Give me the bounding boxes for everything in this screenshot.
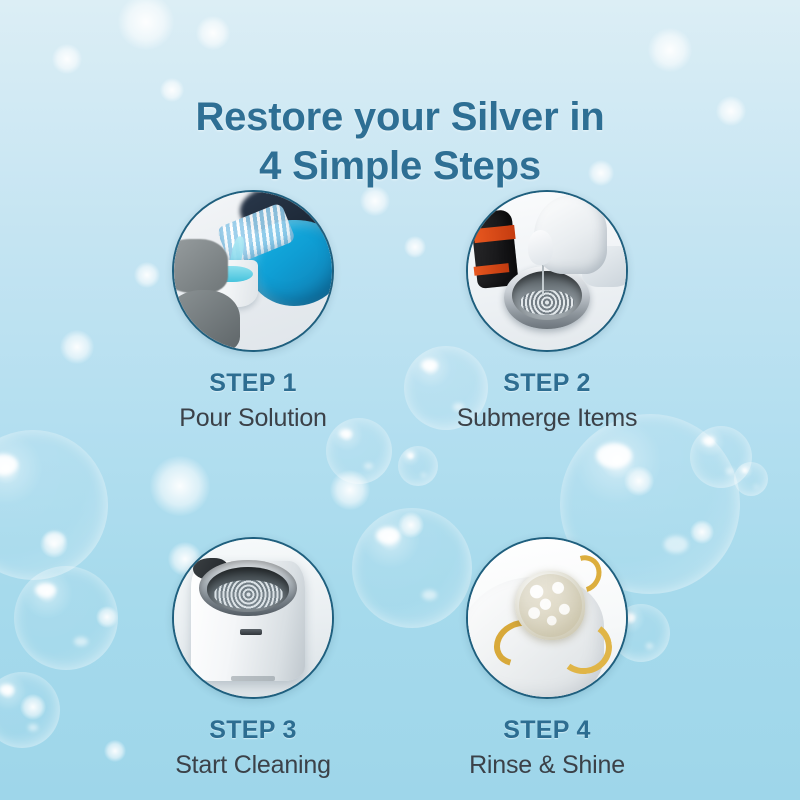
bokeh-dot: [60, 330, 94, 364]
step-4-photo-rinse-and-shine: [466, 537, 628, 699]
soap-bubble: [0, 430, 108, 580]
bokeh-dot: [40, 530, 68, 558]
soap-bubble: [0, 672, 60, 748]
step-4-description: Rinse & Shine: [469, 751, 625, 780]
step-3-description: Start Cleaning: [175, 751, 331, 780]
step-card-1: STEP 1 Pour Solution: [118, 190, 388, 433]
step-2-label: STEP 2: [503, 369, 591, 398]
step-1-description: Pour Solution: [179, 404, 327, 433]
soap-bubble: [734, 462, 768, 496]
step-2-description: Submerge Items: [457, 404, 638, 433]
bokeh-dot: [118, 0, 174, 50]
soap-bubble: [14, 566, 118, 670]
steps-grid: STEP 1 Pour Solution: [118, 190, 682, 780]
step-3-label: STEP 3: [209, 716, 297, 745]
step-card-4: STEP 4 Rinse & Shine: [412, 537, 682, 780]
bokeh-dot: [648, 28, 692, 72]
step-4-label: STEP 4: [503, 716, 591, 745]
step-3-photo-start-cleaning: [172, 537, 334, 699]
step-1-photo-pour-solution: [172, 190, 334, 352]
step-1-label: STEP 1: [209, 369, 297, 398]
title-line-1: Restore your Silver in: [0, 93, 800, 143]
step-2-photo-submerge-items: [466, 190, 628, 352]
infographic-canvas: Restore your Silver in 4 Simple Steps: [0, 0, 800, 800]
bokeh-dot: [20, 694, 46, 720]
soap-bubble: [690, 426, 752, 488]
bokeh-dot: [52, 44, 82, 74]
bokeh-dot: [196, 16, 230, 50]
bokeh-dot: [96, 606, 118, 628]
title-line-2: 4 Simple Steps: [0, 142, 800, 192]
bokeh-dot: [690, 520, 714, 544]
page-title: Restore your Silver in 4 Simple Steps: [0, 93, 800, 192]
step-card-3: STEP 3 Start Cleaning: [118, 537, 388, 780]
step-card-2: STEP 2 Submerge Items: [412, 190, 682, 433]
